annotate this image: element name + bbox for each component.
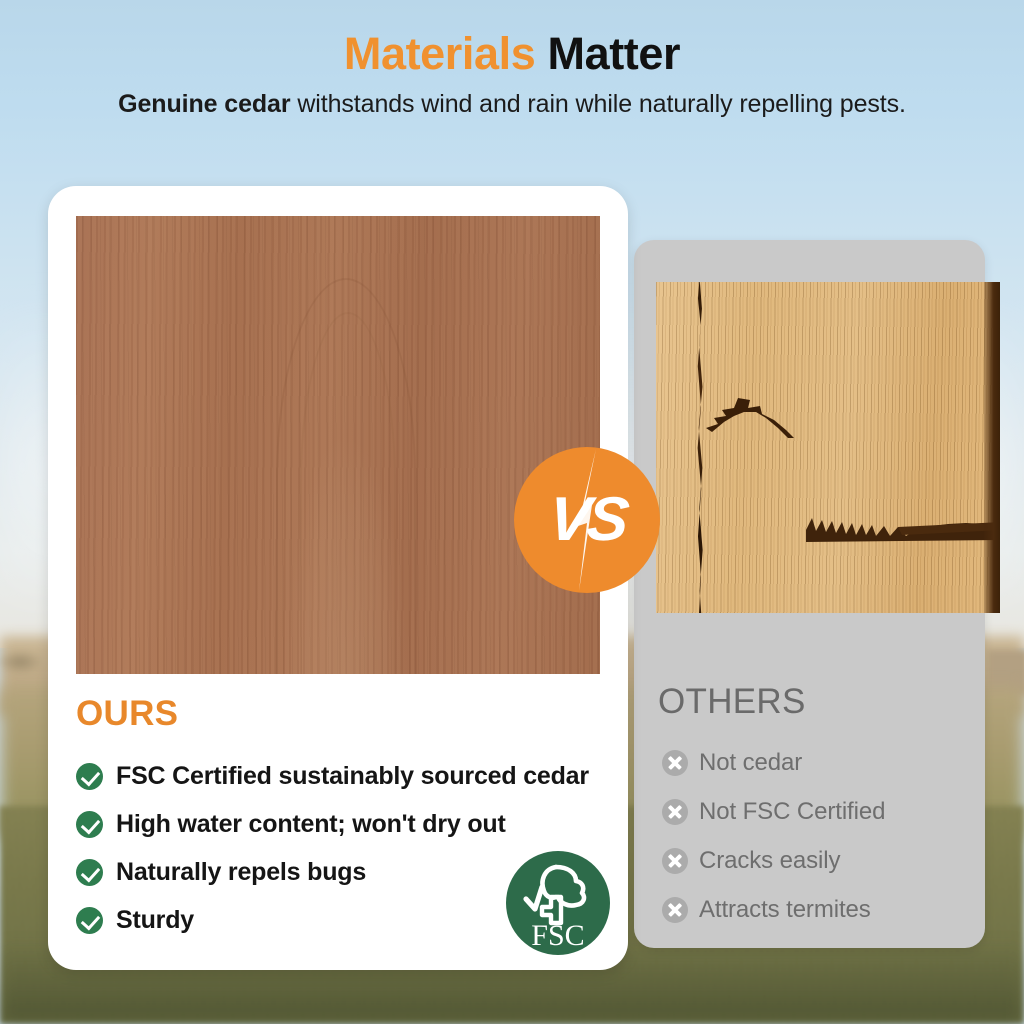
- fsc-logo-text: FSC: [531, 919, 584, 952]
- page-title: Materials Matter: [0, 30, 1024, 78]
- x-circle-icon: [662, 799, 688, 825]
- list-item-label: Naturally repels bugs: [116, 858, 366, 887]
- vs-label: VS: [545, 489, 628, 551]
- subtitle-bold-phrase: Genuine cedar: [118, 90, 290, 118]
- cedar-grain-arch-inner: [300, 312, 396, 674]
- x-circle-icon: [662, 750, 688, 776]
- diagonal-crack: [704, 386, 844, 438]
- list-item: Attracts termites: [662, 885, 885, 934]
- title-accent-word: Materials: [344, 28, 536, 79]
- check-circle-icon: [76, 859, 103, 886]
- x-circle-icon: [662, 897, 688, 923]
- title-rest-word: Matter: [535, 28, 680, 79]
- cedar-wood-image: [76, 216, 600, 674]
- list-item: Not FSC Certified: [662, 787, 885, 836]
- fsc-logo-mark: FSC: [506, 851, 610, 955]
- splintered-edge: [806, 518, 1000, 552]
- list-item-label: High water content; won't dry out: [116, 810, 506, 839]
- list-item-label: FSC Certified sustainably sourced cedar: [116, 762, 589, 791]
- others-drawback-list: Not cedar Not FSC Certified Cracks easil…: [662, 738, 885, 934]
- list-item-label: Not FSC Certified: [699, 798, 885, 826]
- list-item: Not cedar: [662, 738, 885, 787]
- list-item-label: Cracks easily: [699, 847, 840, 875]
- pine-dark-edge: [984, 282, 1000, 613]
- check-circle-icon: [76, 907, 103, 934]
- pine-grain-texture: [656, 282, 1000, 613]
- page-subtitle: Genuine cedar withstands wind and rain w…: [0, 89, 1024, 119]
- vs-badge: VS: [514, 447, 660, 593]
- fsc-logo: FSC: [506, 851, 610, 955]
- list-item-label: Not cedar: [699, 749, 802, 777]
- others-heading: OTHERS: [658, 682, 806, 722]
- x-circle-icon: [662, 848, 688, 874]
- check-circle-icon: [76, 811, 103, 838]
- list-item: High water content; won't dry out: [76, 800, 589, 848]
- list-item: FSC Certified sustainably sourced cedar: [76, 752, 589, 800]
- cracked-pine-image: [656, 282, 1000, 613]
- ours-heading: OURS: [76, 694, 178, 734]
- subtitle-rest: withstands wind and rain while naturally…: [291, 90, 906, 118]
- list-item: Cracks easily: [662, 836, 885, 885]
- check-circle-icon: [76, 763, 103, 790]
- list-item-label: Attracts termites: [699, 896, 871, 924]
- list-item-label: Sturdy: [116, 906, 194, 935]
- header: Materials Matter Genuine cedar withstand…: [0, 30, 1024, 119]
